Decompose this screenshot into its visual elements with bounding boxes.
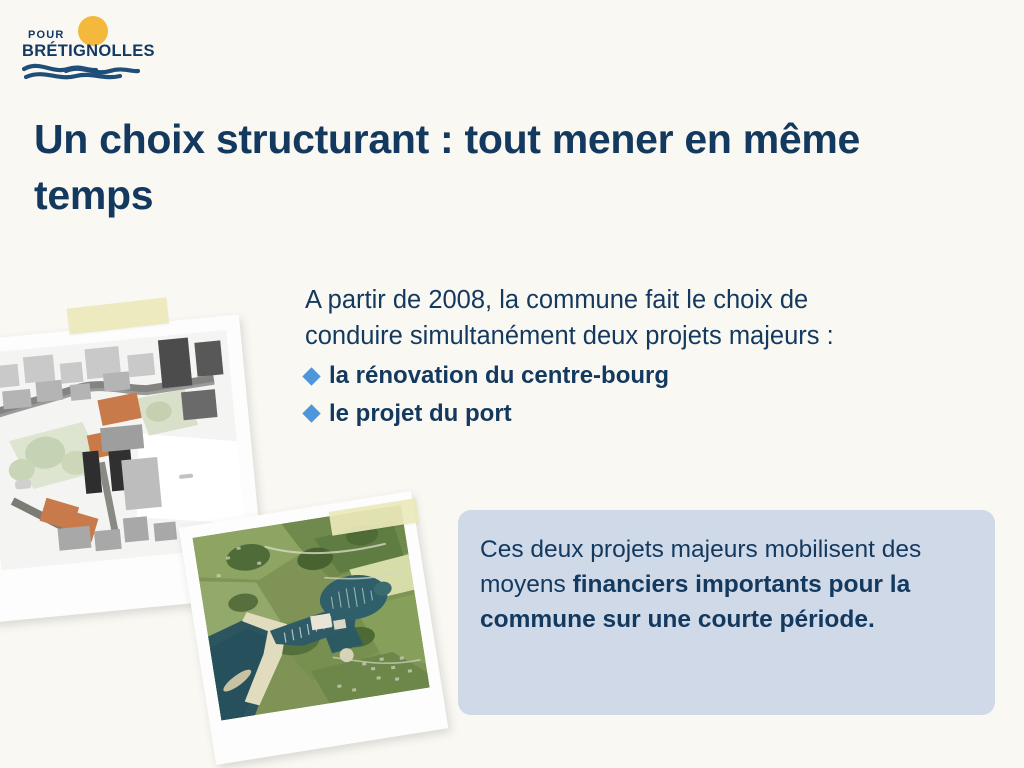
waves-icon [22,61,140,81]
diamond-bullet-icon [302,367,320,385]
intro-line-2: conduire simultanément deux projets maje… [305,318,1010,354]
bullet-label: le projet du port [329,395,512,432]
page-title: Un choix structurant : tout mener en mêm… [34,112,914,224]
port-aerial-image [192,505,429,721]
diamond-bullet-icon [302,404,320,422]
bullet-label: la rénovation du centre-bourg [329,357,669,394]
logo-line-pour: POUR [28,29,65,41]
body-text-block: A partir de 2008, la commune fait le cho… [305,282,1010,432]
logo-line-bretignolles: BRÉTIGNOLLES [22,42,155,61]
callout-text: Ces deux projets majeurs mobilisent des … [480,532,969,637]
brand-logo: POUR BRÉTIGNOLLES [22,16,142,78]
photo-card-port [179,491,449,765]
list-item: le projet du port [305,395,1010,432]
list-item: la rénovation du centre-bourg [305,357,1010,394]
projects-bullet-list: la rénovation du centre-bourg le projet … [305,357,1010,431]
intro-line-1: A partir de 2008, la commune fait le cho… [305,282,1010,318]
highlight-callout: Ces deux projets majeurs mobilisent des … [458,510,995,715]
